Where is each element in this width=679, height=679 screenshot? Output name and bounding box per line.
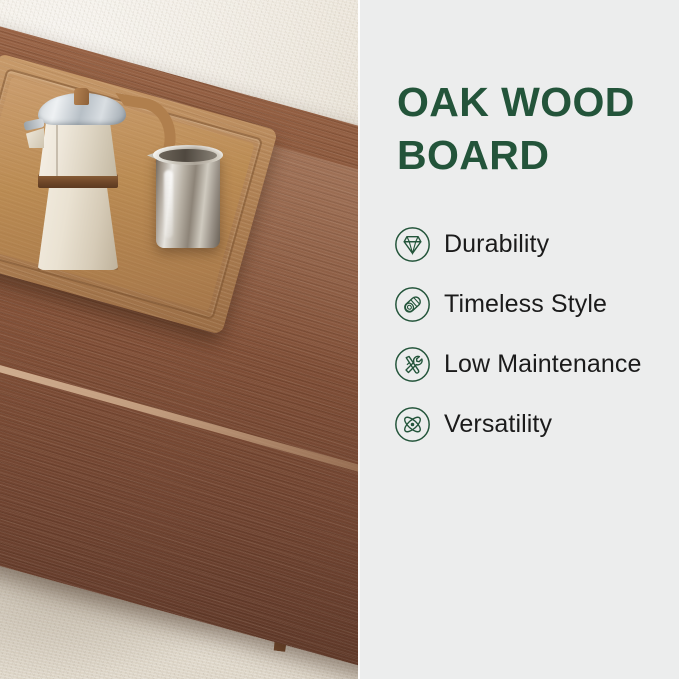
moka-pot-spout (26, 128, 44, 148)
feature-label: Durability (444, 230, 549, 259)
product-title: OAK WOOD BOARD (397, 76, 672, 183)
diamond-icon (394, 226, 431, 263)
atom-icon (394, 406, 431, 443)
feature-item-durability: Durability (394, 214, 679, 274)
pitcher-interior (159, 149, 217, 162)
feature-item-low-maintenance: Low Maintenance (394, 334, 679, 394)
feature-list: Durability Timeless Style (394, 214, 679, 454)
feature-label: Versatility (444, 410, 552, 439)
moka-pot-knob (74, 88, 89, 105)
wood-log-icon (394, 286, 431, 323)
feature-label: Low Maintenance (444, 350, 641, 379)
moka-pot (22, 88, 142, 273)
tools-icon (394, 346, 431, 383)
product-photo (0, 0, 358, 679)
feature-item-timeless-style: Timeless Style (394, 274, 679, 334)
pitcher-highlight (164, 170, 173, 238)
content-panel: OAK WOOD BOARD Durability (360, 0, 679, 679)
feature-label: Timeless Style (444, 290, 607, 319)
steel-pitcher (150, 140, 230, 260)
moka-pot-band (38, 174, 118, 188)
product-infographic: OAK WOOD BOARD Durability (0, 0, 679, 679)
moka-pot-base (36, 184, 120, 270)
feature-item-versatility: Versatility (394, 394, 679, 454)
